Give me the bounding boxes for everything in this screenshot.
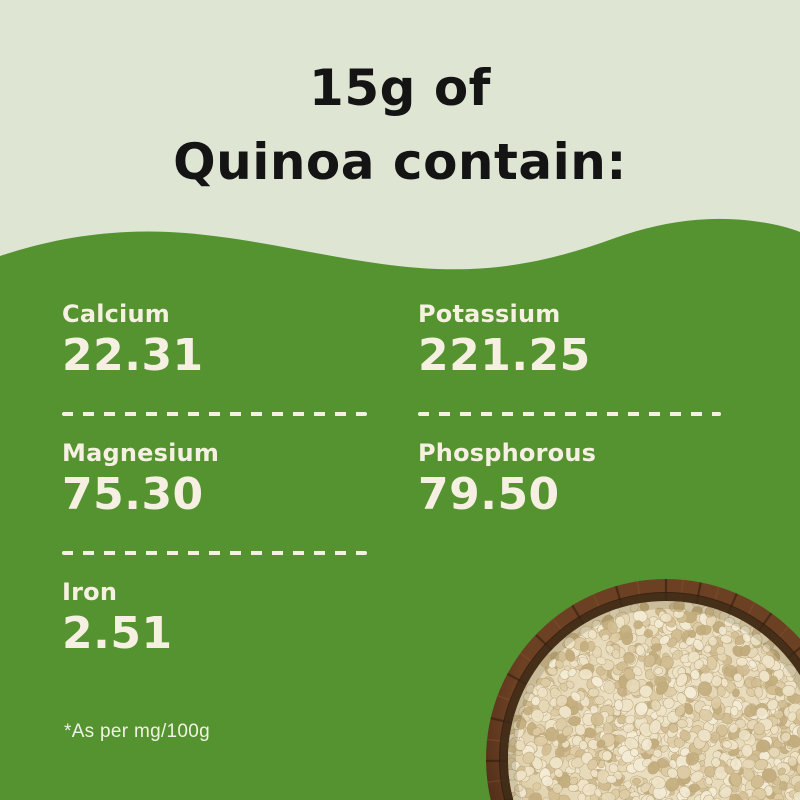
dashed-divider <box>62 412 367 416</box>
page-title: 15g of Quinoa contain: <box>0 58 800 192</box>
nutrient-item-magnesium: Magnesium 75.30 <box>62 439 382 521</box>
nutrient-item-potassium: Potassium 221.25 <box>418 300 738 382</box>
nutrient-label: Iron <box>62 578 382 606</box>
nutrient-value: 2.51 <box>62 608 382 660</box>
footnote-text: *As per mg/100g <box>64 721 210 743</box>
nutrient-row: Magnesium 75.30 Phosphorous 79.50 <box>62 439 742 578</box>
nutrient-label: Phosphorous <box>418 439 738 467</box>
dashed-divider <box>62 551 367 555</box>
infographic-poster: 15g of Quinoa contain: <box>0 0 800 800</box>
nutrient-list: Calcium 22.31 Potassium 221.25 Magnesium… <box>62 300 742 698</box>
nutrient-value: 75.30 <box>62 469 382 521</box>
nutrient-label: Potassium <box>418 300 738 328</box>
nutrient-row: Iron 2.51 <box>62 578 742 698</box>
nutrient-value: 221.25 <box>418 330 738 382</box>
nutrient-label: Magnesium <box>62 439 382 467</box>
nutrient-value: 79.50 <box>418 469 738 521</box>
nutrient-value: 22.31 <box>62 330 382 382</box>
dashed-divider <box>418 412 721 416</box>
nutrient-item-phosphorous: Phosphorous 79.50 <box>418 439 738 521</box>
title-line-1: 15g of <box>0 58 800 118</box>
nutrient-item-iron: Iron 2.51 <box>62 578 382 660</box>
nutrient-item-calcium: Calcium 22.31 <box>62 300 382 382</box>
title-line-2: Quinoa contain: <box>0 132 800 192</box>
nutrient-row: Calcium 22.31 Potassium 221.25 <box>62 300 742 439</box>
nutrient-label: Calcium <box>62 300 382 328</box>
